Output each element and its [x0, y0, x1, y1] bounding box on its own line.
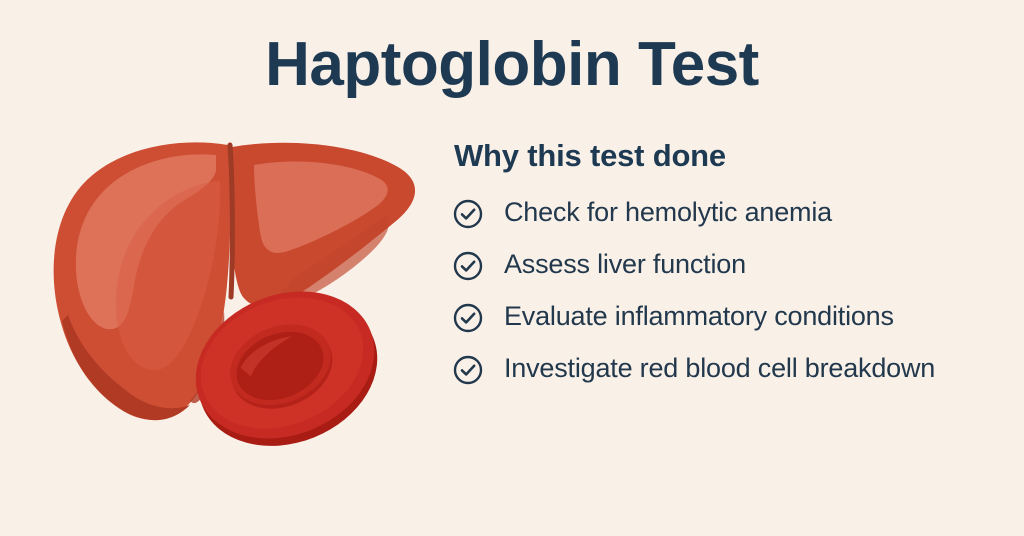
list-item-label: Evaluate inflammatory conditions — [504, 300, 894, 333]
list-item: Evaluate inflammatory conditions — [452, 300, 1000, 334]
list-item: Investigate red blood cell breakdown — [452, 352, 1000, 386]
check-circle-icon — [452, 302, 484, 334]
list-item: Assess liver function — [452, 248, 1000, 282]
list-item: Check for hemolytic anemia — [452, 196, 1000, 230]
section-subtitle: Why this test done — [454, 138, 1000, 174]
list-item-label: Investigate red blood cell breakdown — [504, 352, 935, 385]
check-circle-icon — [452, 198, 484, 230]
list-item-label: Assess liver function — [504, 248, 746, 281]
list-item-label: Check for hemolytic anemia — [504, 196, 832, 229]
reasons-checklist: Check for hemolytic anemia Assess liver … — [452, 196, 1000, 386]
check-circle-icon — [452, 354, 484, 386]
medical-illustration — [40, 125, 440, 465]
page-title: Haptoglobin Test — [0, 32, 1024, 97]
content-column: Why this test done Check for hemolytic a… — [452, 138, 1000, 386]
check-circle-icon — [452, 250, 484, 282]
infographic-poster: Haptoglobin Test — [0, 0, 1024, 536]
